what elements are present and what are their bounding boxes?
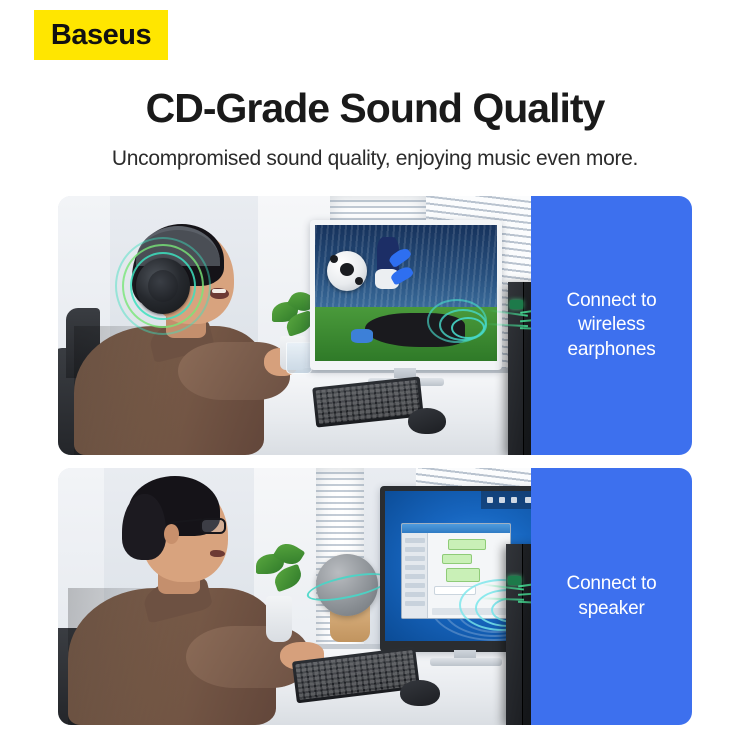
feature-card-speaker: Connect to speaker bbox=[58, 468, 692, 725]
taskbar-icon-3[interactable] bbox=[511, 497, 517, 503]
chat-sidebar-row-3[interactable] bbox=[405, 556, 425, 561]
chat-bubble-1 bbox=[448, 539, 486, 550]
taskbar-icon-2[interactable] bbox=[499, 497, 505, 503]
chat-sidebar-row-2[interactable] bbox=[405, 547, 425, 552]
taskbar-icon-4[interactable] bbox=[525, 497, 531, 503]
chat-window-titlebar[interactable] bbox=[402, 524, 510, 533]
card-2-panel-text: Connect to speaker bbox=[567, 572, 657, 621]
pc-tower-2-front-face bbox=[506, 544, 523, 725]
card-2-panel-line-1: Connect to bbox=[567, 572, 657, 596]
monitor-2-base bbox=[430, 658, 502, 666]
chat-sidebar-row-5[interactable] bbox=[405, 574, 425, 579]
card-2-label-panel: Connect to speaker bbox=[531, 468, 692, 725]
drinking-glass bbox=[286, 342, 312, 374]
card-2-panel-line-2: speaker bbox=[567, 597, 657, 621]
chat-sidebar-row-6[interactable] bbox=[405, 583, 425, 588]
taskbar-icon-1[interactable] bbox=[487, 497, 493, 503]
usb-dongle-2-icon bbox=[508, 576, 521, 585]
chat-bubble-3 bbox=[446, 568, 480, 582]
chat-sidebar-row-7[interactable] bbox=[405, 592, 425, 597]
card-1-panel-line-3: earphones bbox=[567, 338, 657, 362]
monitor-screen bbox=[315, 225, 497, 361]
taskbar[interactable] bbox=[481, 491, 531, 509]
eyeglasses-lens-icon bbox=[200, 518, 226, 534]
ball-pentagon-2 bbox=[330, 255, 338, 263]
card-1-label-panel: Connect to wireless earphones bbox=[531, 196, 692, 455]
card-1-panel-text: Connect to wireless earphones bbox=[567, 289, 657, 362]
photo-wireless-earphones-scene bbox=[58, 196, 531, 455]
screen-signal-arc-3-icon bbox=[451, 317, 485, 339]
usb-dongle-icon bbox=[510, 300, 523, 309]
screen-soccer-ball bbox=[327, 251, 367, 291]
ball-pentagon-1 bbox=[340, 263, 354, 276]
feature-card-wireless-earphones: Connect to wireless earphones bbox=[58, 196, 692, 455]
person-teeth bbox=[212, 289, 226, 293]
chat-bubble-2 bbox=[442, 554, 472, 564]
mouse bbox=[408, 408, 446, 434]
signal-ring-3-icon bbox=[115, 237, 211, 335]
brand-logo: Baseus bbox=[34, 10, 168, 60]
chat-sidebar-row-4[interactable] bbox=[405, 565, 425, 570]
mouse-2 bbox=[400, 680, 440, 706]
keyboard-keys bbox=[316, 380, 421, 424]
chat-sidebar-row-8[interactable] bbox=[405, 601, 425, 606]
card-1-panel-line-1: Connect to bbox=[567, 289, 657, 313]
person-2-mouth bbox=[210, 550, 225, 557]
card-1-panel-line-2: wireless bbox=[567, 313, 657, 337]
screen-goalkeeper-arm bbox=[351, 329, 373, 343]
person-2-hair-back bbox=[122, 494, 166, 560]
plant-pot-2 bbox=[266, 596, 292, 642]
brand-logo-text: Baseus bbox=[51, 21, 151, 50]
photo-speaker-scene bbox=[58, 468, 531, 725]
person-2-ear bbox=[164, 524, 179, 544]
ball-pentagon-3 bbox=[355, 277, 363, 285]
page-subtitle: Uncompromised sound quality, enjoying mu… bbox=[0, 146, 750, 171]
chat-sidebar-row-1[interactable] bbox=[405, 538, 425, 543]
page-title: CD-Grade Sound Quality bbox=[0, 88, 750, 129]
